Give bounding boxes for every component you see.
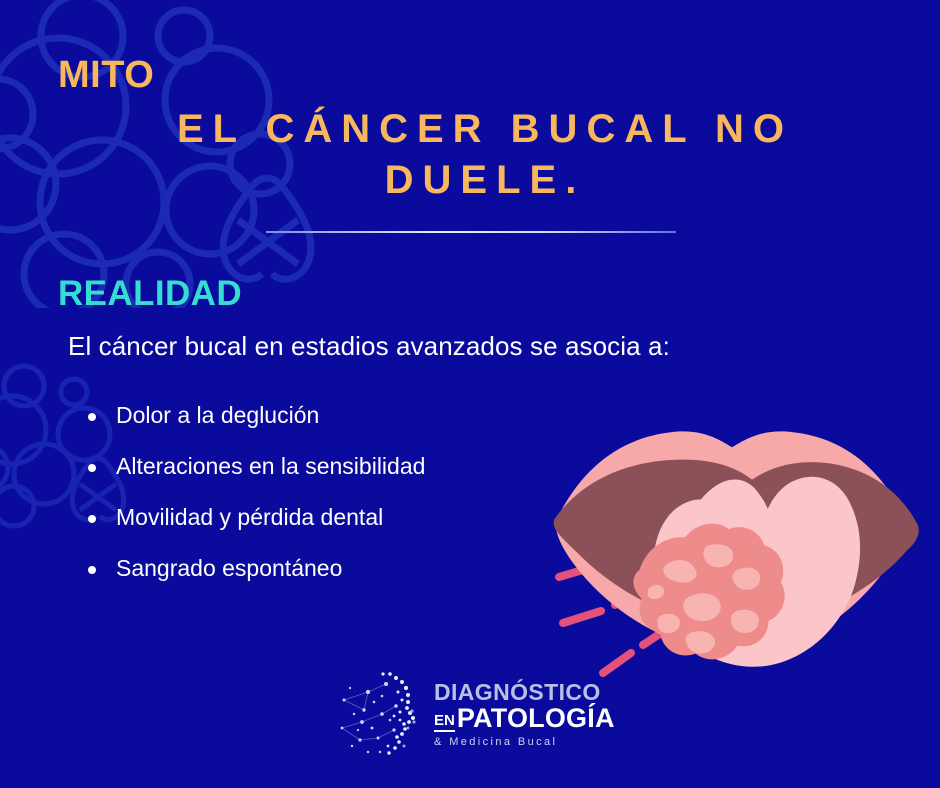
- page-title: EL CÁNCER BUCAL NO DUELE.: [120, 104, 850, 206]
- myth-label: MITO: [58, 56, 154, 94]
- logo-tagline: & Medicina Bucal: [434, 737, 615, 748]
- section-divider: [266, 231, 676, 233]
- logo-patologia-word: PATOLOGÍA: [457, 706, 615, 732]
- logo-line-patologia: EN PATOLOGÍA: [434, 706, 615, 732]
- list-item-label: Dolor a la deglución: [116, 404, 319, 427]
- reality-label: REALIDAD: [58, 276, 242, 311]
- bullet-dot-icon: [88, 413, 96, 421]
- symptom-list: Dolor a la deglución Alteraciones en la …: [88, 404, 425, 608]
- list-item-label: Movilidad y pérdida dental: [116, 506, 383, 529]
- bullet-dot-icon: [88, 464, 96, 472]
- list-item-label: Sangrado espontáneo: [116, 557, 342, 580]
- logo-line-diagnostico: DIAGNÓSTICO: [434, 681, 615, 704]
- list-item: Dolor a la deglución: [88, 404, 425, 427]
- bullet-dot-icon: [88, 515, 96, 523]
- list-item: Movilidad y pérdida dental: [88, 506, 425, 529]
- poster-canvas: MITO EL CÁNCER BUCAL NO DUELE. REALIDAD …: [0, 0, 940, 788]
- list-item: Alteraciones en la sensibilidad: [88, 455, 425, 478]
- logo-wordmark: DIAGNÓSTICO EN PATOLOGÍA & Medicina Buca…: [434, 681, 615, 748]
- list-item-label: Alteraciones en la sensibilidad: [116, 455, 425, 478]
- reality-lead-text: El cáncer bucal en estadios avanzados se…: [68, 331, 670, 362]
- bullet-dot-icon: [88, 566, 96, 574]
- list-item: Sangrado espontáneo: [88, 557, 425, 580]
- brand-logo: DIAGNÓSTICO EN PATOLOGÍA & Medicina Buca…: [338, 666, 615, 763]
- particle-face-icon: [338, 666, 424, 763]
- logo-en-prefix: EN: [434, 713, 455, 732]
